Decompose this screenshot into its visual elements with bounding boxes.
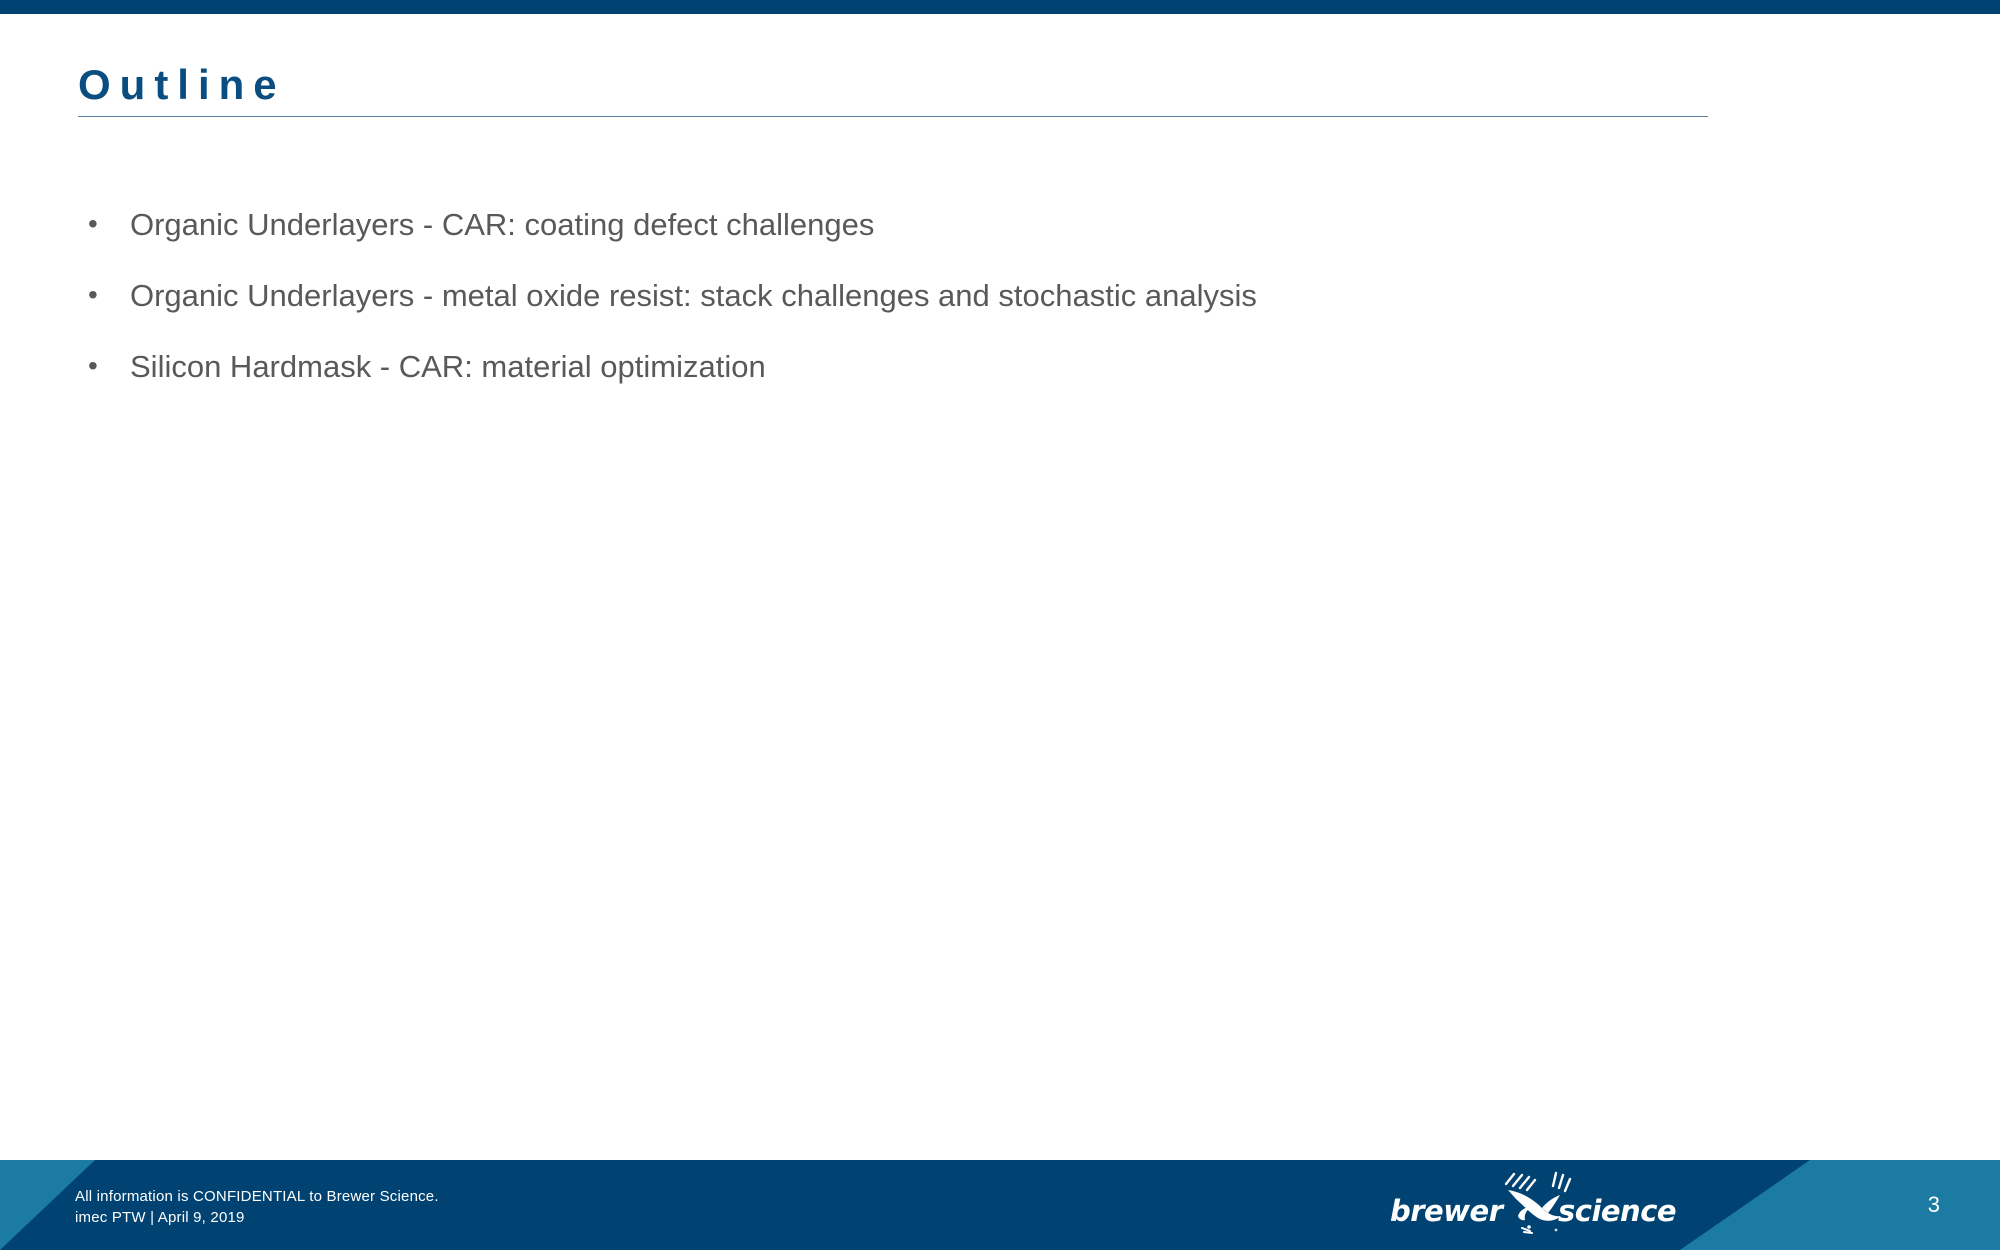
footer-text-block: All information is CONFIDENTIAL to Brewe… <box>75 1186 439 1228</box>
event-date-line: imec PTW | April 9, 2019 <box>75 1207 439 1228</box>
bullet-icon: • <box>88 276 98 314</box>
list-item-label: Organic Underlayers - CAR: coating defec… <box>130 207 874 242</box>
confidentiality-notice: All information is CONFIDENTIAL to Brewe… <box>75 1186 439 1207</box>
brewer-science-logo: brewer <box>1390 1174 1690 1236</box>
bullet-icon: • <box>88 347 98 385</box>
slide-canvas: Outline • Organic Underlayers - CAR: coa… <box>0 0 2000 1250</box>
footer-wedge-right <box>1680 1160 2000 1250</box>
bullet-icon: • <box>88 205 98 243</box>
list-item-label: Organic Underlayers - metal oxide resist… <box>130 278 1257 313</box>
list-item: • Organic Underlayers - metal oxide resi… <box>82 277 1882 315</box>
list-item-label: Silicon Hardmask - CAR: material optimiz… <box>130 349 766 384</box>
bullet-list: • Organic Underlayers - CAR: coating def… <box>82 206 1882 419</box>
slide-footer: All information is CONFIDENTIAL to Brewe… <box>0 1160 2000 1250</box>
title-divider <box>78 116 1708 117</box>
title-block: Outline <box>78 58 1928 112</box>
logo-word-brewer: brewer <box>1390 1194 1503 1228</box>
page-title: Outline <box>78 58 1928 112</box>
top-accent-bar <box>0 0 2000 14</box>
list-item: • Silicon Hardmask - CAR: material optim… <box>82 348 1882 386</box>
logo-word-science: science <box>1558 1194 1676 1228</box>
page-number: 3 <box>1900 1190 1940 1220</box>
list-item: • Organic Underlayers - CAR: coating def… <box>82 206 1882 244</box>
